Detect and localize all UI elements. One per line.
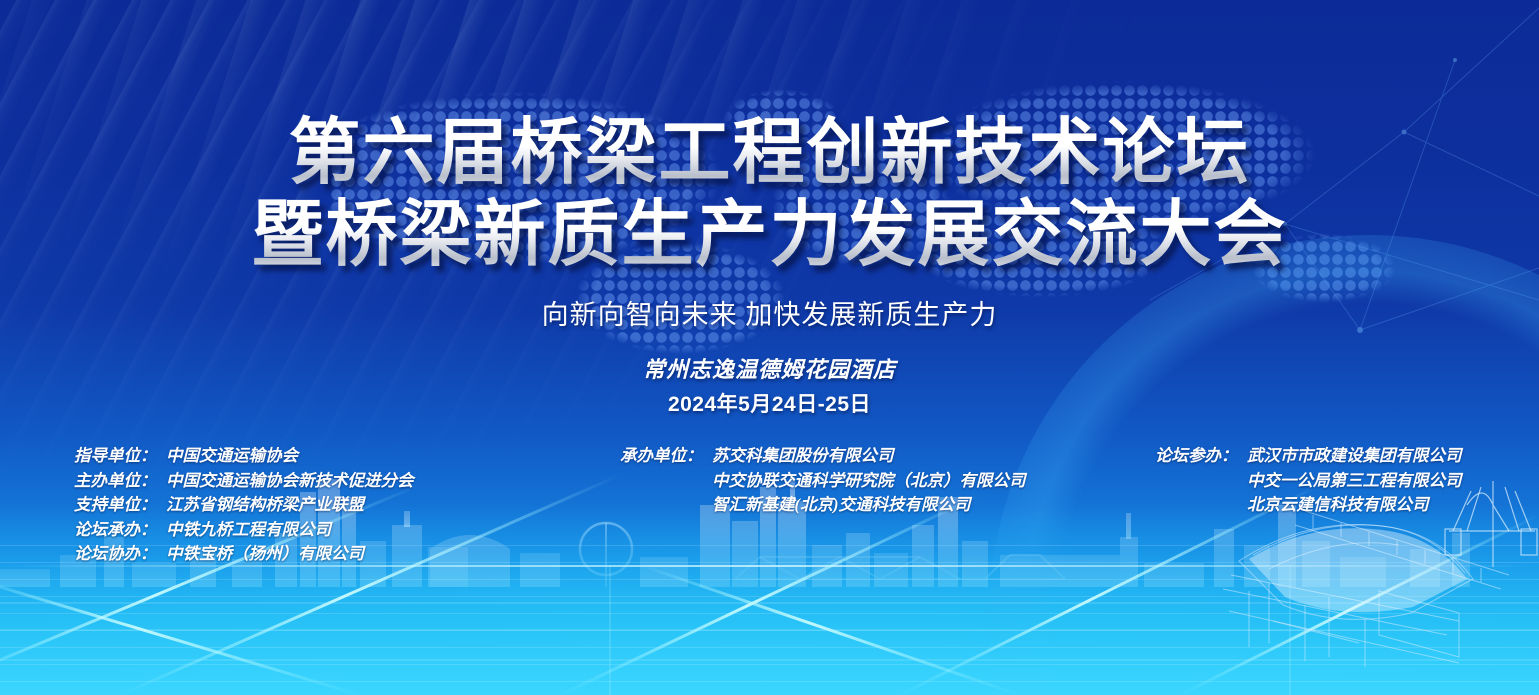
org-left-label: 主办单位： xyxy=(74,469,166,494)
organizations-middle-column: 承办单位：苏交科集团股份有限公司承办单位：中交协联交通科学研究院（北京）有限公司… xyxy=(620,444,1026,518)
organizations-left-column: 指导单位：中国交通运输协会主办单位：中国交通运输协会新技术促进分会支持单位：江苏… xyxy=(74,444,414,567)
org-mid-label: 承办单位： xyxy=(620,444,712,469)
org-right-row: 论坛参办：北京云建信科技有限公司 xyxy=(1155,493,1462,518)
org-mid-value: 中交协联交通科学研究院（北京）有限公司 xyxy=(712,469,1026,494)
org-left-value: 中国交通运输协会新技术促进分会 xyxy=(166,469,414,494)
organizations-right-column: 论坛参办：武汉市市政建设集团有限公司论坛参办：中交一公局第三工程有限公司论坛参办… xyxy=(1155,444,1462,518)
org-right-row: 论坛参办：武汉市市政建设集团有限公司 xyxy=(1155,444,1462,469)
org-left-row: 支持单位：江苏省钢结构桥梁产业联盟 xyxy=(74,493,414,518)
org-right-value: 中交一公局第三工程有限公司 xyxy=(1247,469,1462,494)
title-block: 第六届桥梁工程创新技术论坛 暨桥梁新质生产力发展交流大会 xyxy=(0,112,1539,276)
slogan-text: 向新向智向未来 加快发展新质生产力 xyxy=(0,293,1539,332)
org-left-label: 论坛承办： xyxy=(74,518,166,543)
org-mid-value: 苏交科集团股份有限公司 xyxy=(712,444,894,469)
org-right-value: 武汉市市政建设集团有限公司 xyxy=(1247,444,1462,469)
org-left-row: 主办单位：中国交通运输协会新技术促进分会 xyxy=(74,469,414,494)
org-left-row: 论坛承办：中铁九桥工程有限公司 xyxy=(74,518,414,543)
org-right-label: 论坛参办： xyxy=(1155,444,1247,469)
org-right-value: 北京云建信科技有限公司 xyxy=(1247,493,1429,518)
org-left-value: 中铁宝桥（扬州）有限公司 xyxy=(166,542,364,567)
org-mid-row: 承办单位：中交协联交通科学研究院（北京）有限公司 xyxy=(620,469,1026,494)
title-line-2: 暨桥梁新质生产力发展交流大会 xyxy=(0,194,1539,276)
org-left-row: 指导单位：中国交通运输协会 xyxy=(74,444,414,469)
title-line-1: 第六届桥梁工程创新技术论坛 xyxy=(0,112,1539,194)
org-left-value: 中铁九桥工程有限公司 xyxy=(166,518,331,543)
org-left-value: 江苏省钢结构桥梁产业联盟 xyxy=(166,493,364,518)
org-left-label: 论坛协办： xyxy=(74,542,166,567)
venue-block: 常州志逸温德姆花园酒店 2024年5月24日-25日 xyxy=(0,352,1539,418)
org-left-label: 指导单位： xyxy=(74,444,166,469)
org-left-label: 支持单位： xyxy=(74,493,166,518)
org-mid-value: 智汇新基建(北京)交通科技有限公司 xyxy=(712,493,971,518)
org-mid-row: 承办单位：智汇新基建(北京)交通科技有限公司 xyxy=(620,493,1026,518)
org-mid-row: 承办单位：苏交科集团股份有限公司 xyxy=(620,444,1026,469)
org-left-value: 中国交通运输协会 xyxy=(166,444,298,469)
org-left-row: 论坛协办：中铁宝桥（扬州）有限公司 xyxy=(74,542,414,567)
venue-name: 常州志逸温德姆花园酒店 xyxy=(0,352,1539,384)
event-dates: 2024年5月24日-25日 xyxy=(0,388,1539,418)
conference-banner: 第六届桥梁工程创新技术论坛 暨桥梁新质生产力发展交流大会 向新向智向未来 加快发… xyxy=(0,0,1539,695)
org-right-row: 论坛参办：中交一公局第三工程有限公司 xyxy=(1155,469,1462,494)
